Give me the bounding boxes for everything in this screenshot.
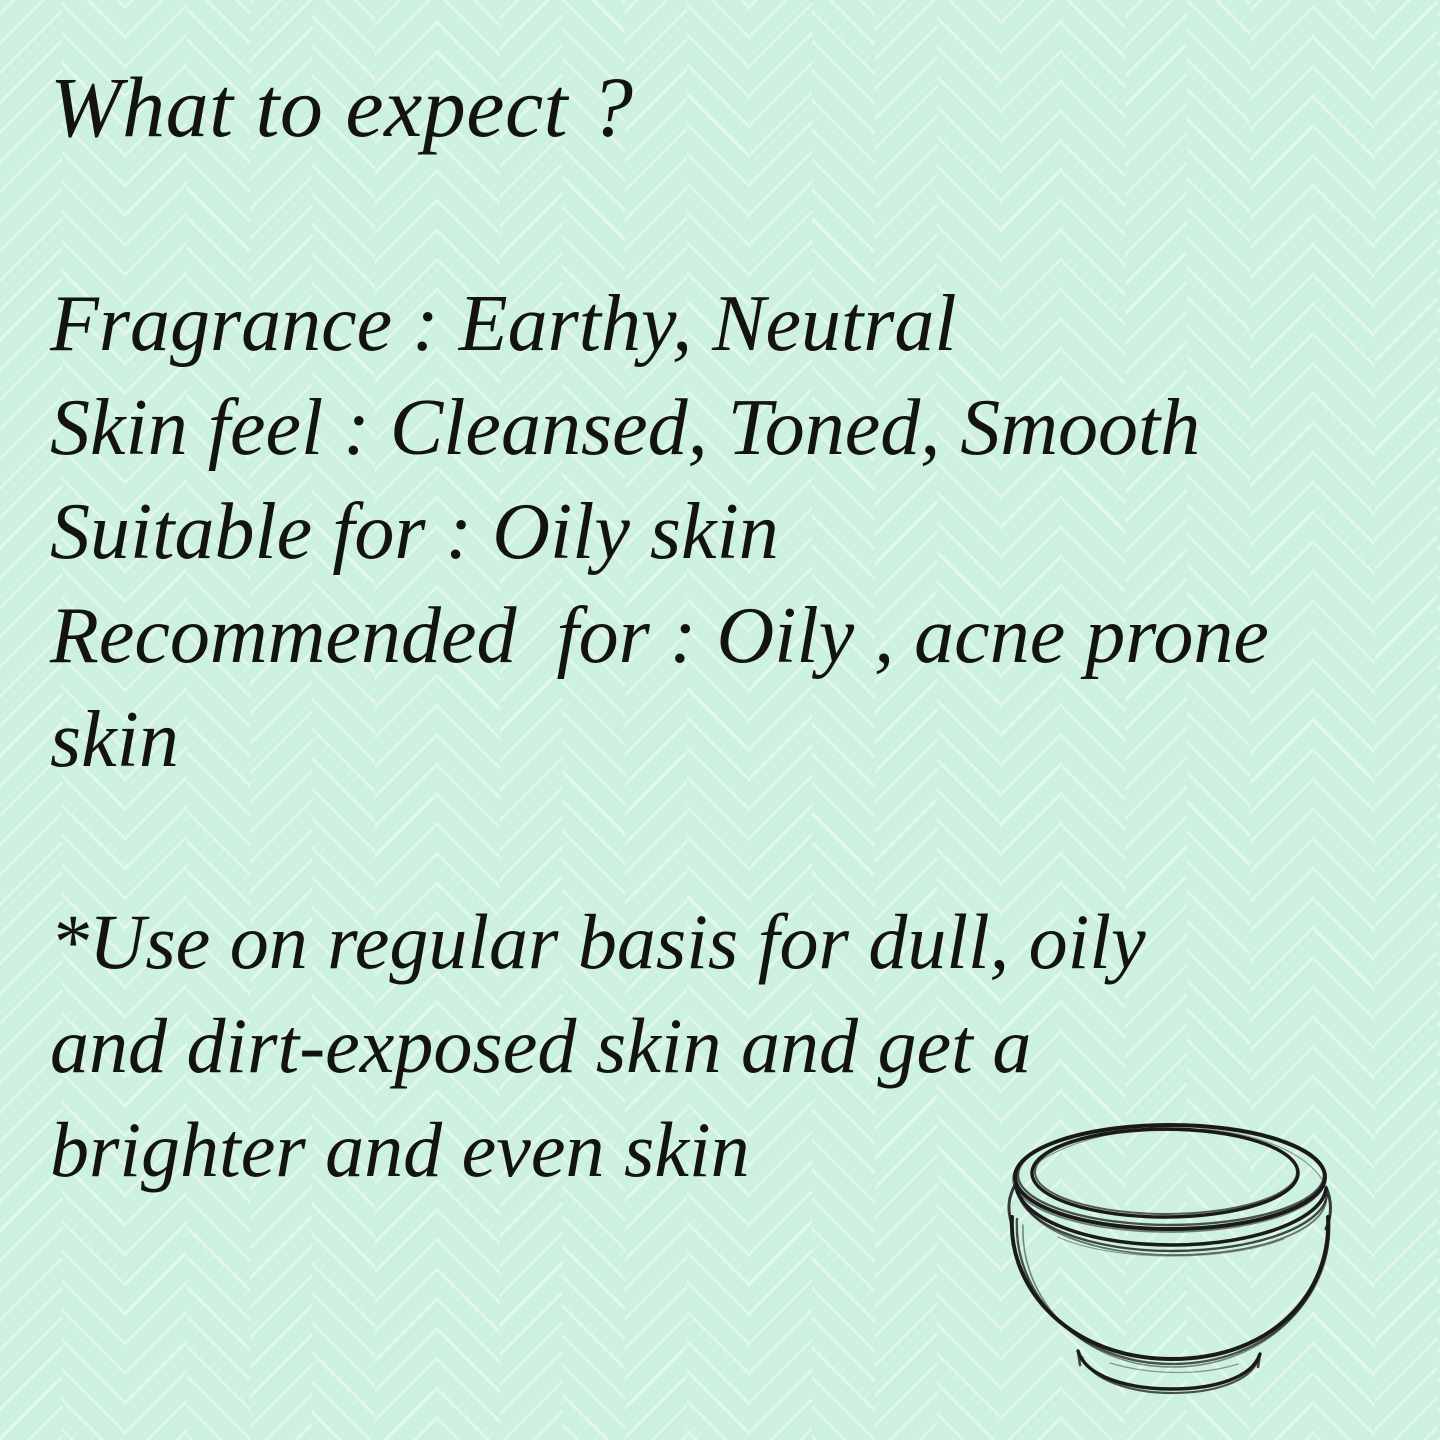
- spec-line-suitable-for: Suitable for : Oily skin: [50, 480, 1410, 584]
- spec-line-recommended-cont: skin: [50, 688, 1410, 792]
- usage-note-line-1: *Use on regular basis for dull, oily: [50, 890, 1350, 994]
- poster-canvas: What to expect ? Fragrance : Earthy, Neu…: [0, 0, 1440, 1440]
- spec-line-recommended-for: Recommended for : Oily , acne prone: [50, 584, 1410, 688]
- usage-note-line-2: and dirt-exposed skin and get a: [50, 994, 1350, 1098]
- cosmetic-jar-icon: [960, 1105, 1380, 1405]
- spec-line-skin-feel: Skin feel : Cleansed, Toned, Smooth: [50, 376, 1410, 480]
- page-title: What to expect ?: [50, 64, 634, 150]
- spec-line-fragrance: Fragrance : Earthy, Neutral: [50, 272, 1410, 376]
- product-spec-list: Fragrance : Earthy, Neutral Skin feel : …: [50, 272, 1410, 792]
